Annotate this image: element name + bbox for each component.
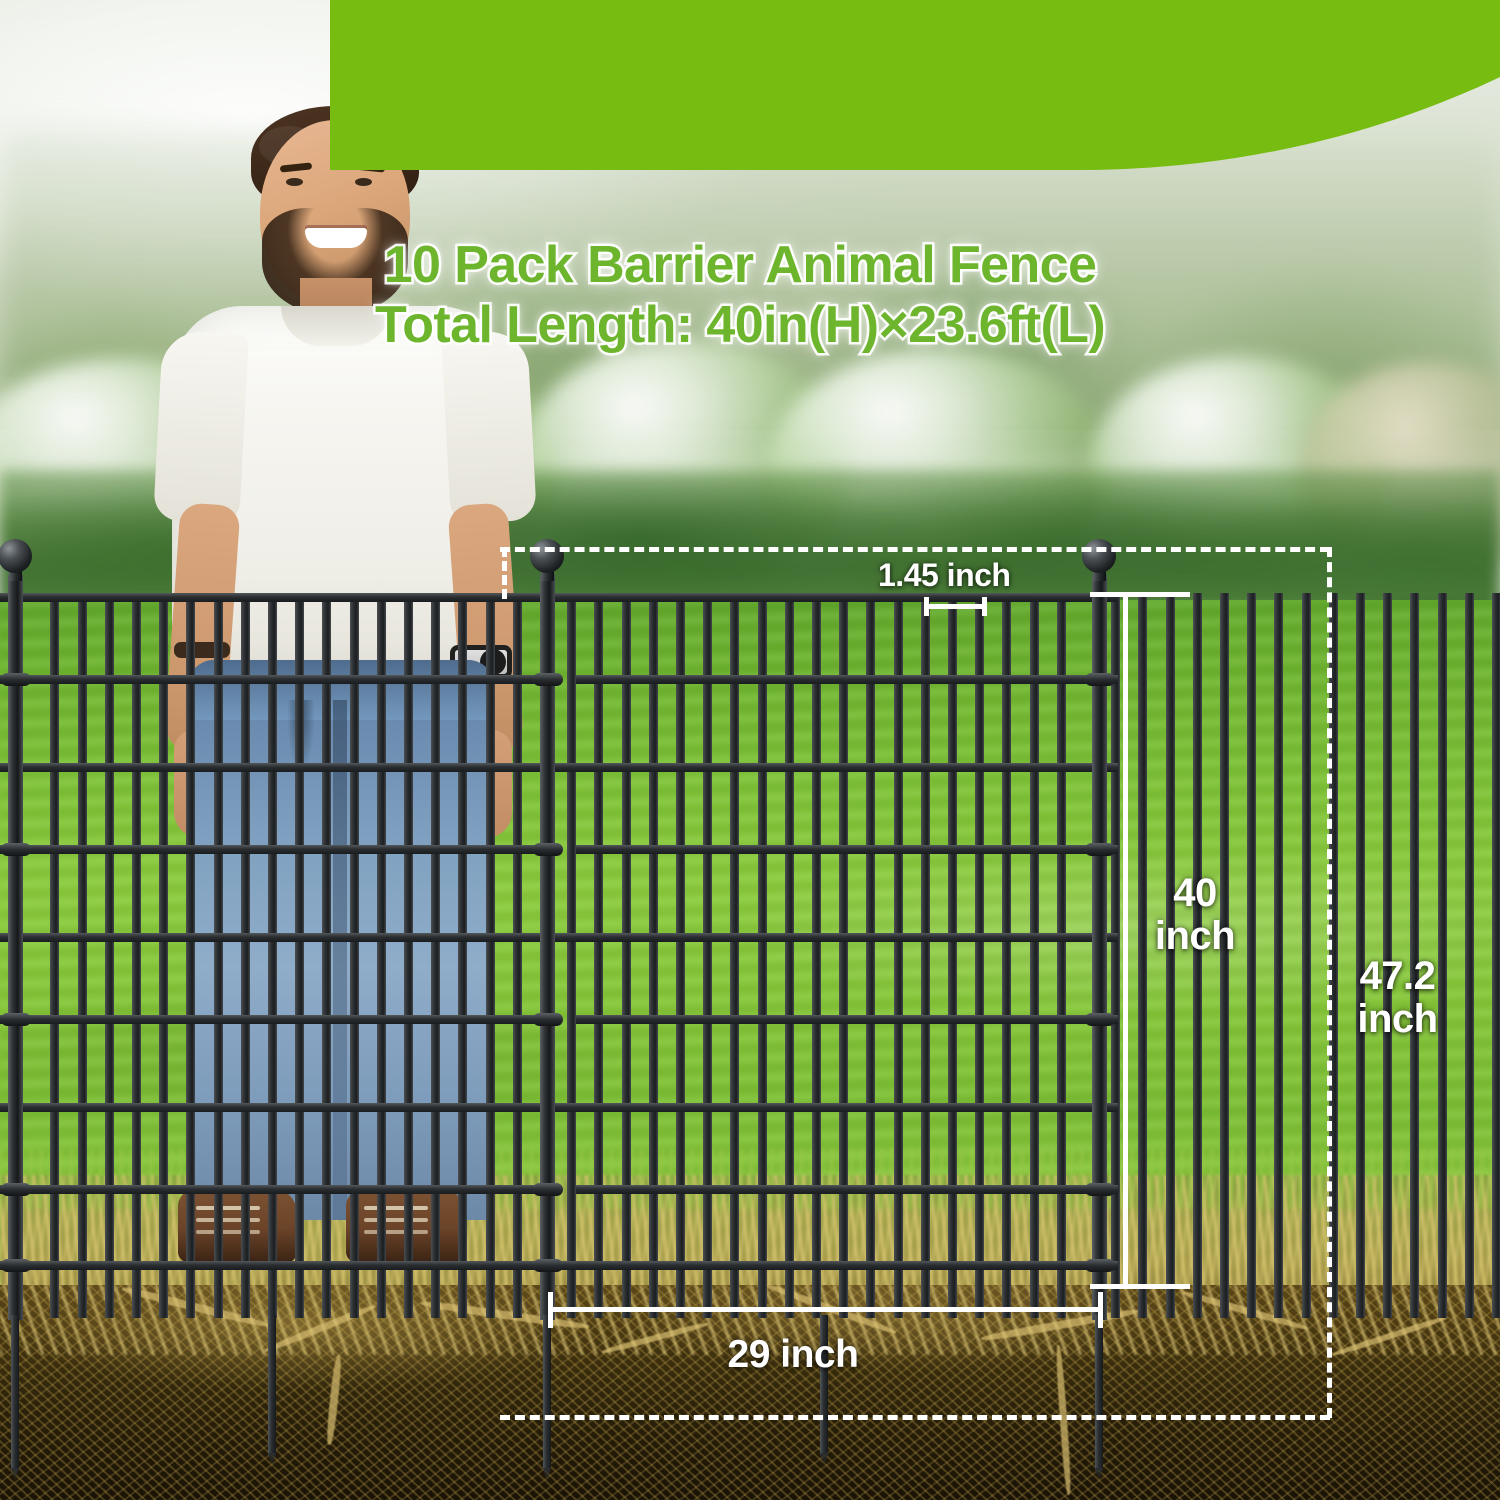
dashed-line-left-stub xyxy=(502,547,507,599)
fence-rail xyxy=(0,1185,552,1194)
post-clip xyxy=(1,843,31,856)
ground-stake xyxy=(11,1315,19,1470)
label-panel-width: 29 inch xyxy=(728,1334,859,1376)
fence-picket xyxy=(866,593,875,1318)
label-bar-gap: 1.45 inch xyxy=(878,558,1010,593)
fence-rail xyxy=(0,763,552,772)
fence-picket xyxy=(1138,593,1147,1318)
fence-picket xyxy=(295,593,304,1318)
post-clip xyxy=(533,843,563,856)
fence-picket xyxy=(1030,593,1039,1318)
fence-rail xyxy=(576,1015,1104,1024)
fence-picket xyxy=(268,593,277,1318)
fence-rail xyxy=(548,1103,1104,1112)
fence-picket xyxy=(730,593,739,1318)
fence-picket xyxy=(758,593,767,1318)
fence-picket xyxy=(1302,593,1311,1318)
ball-finial xyxy=(1082,539,1116,573)
fence-picket xyxy=(186,593,195,1318)
fence-post xyxy=(1092,575,1107,1320)
fence-picket xyxy=(105,593,114,1318)
fence-picket xyxy=(1111,593,1120,1318)
fence-picket xyxy=(948,593,957,1318)
fence-picket xyxy=(78,593,87,1318)
fence-picket xyxy=(785,593,794,1318)
fence-panels xyxy=(0,545,1500,1325)
fence-picket xyxy=(649,593,658,1318)
measure-line-40-inch xyxy=(1123,592,1128,1288)
post-clip xyxy=(1,1259,31,1272)
fence-picket xyxy=(458,593,467,1318)
fence-picket xyxy=(622,593,631,1318)
post-clip xyxy=(1085,1259,1115,1272)
post-clip xyxy=(1,673,31,686)
fence-rail xyxy=(0,593,552,602)
ground-stake xyxy=(1095,1315,1103,1470)
fence-rail xyxy=(0,675,552,684)
fence-rail xyxy=(0,845,552,854)
post-clip xyxy=(533,1013,563,1026)
eye xyxy=(355,178,372,186)
fence-picket xyxy=(975,593,984,1318)
dashed-line-bottom xyxy=(500,1415,1330,1420)
sleeve xyxy=(153,330,249,524)
post-clip xyxy=(1085,1013,1115,1026)
post-clip xyxy=(1085,843,1115,856)
measure-tick-40-top xyxy=(1090,592,1190,597)
fence-picket xyxy=(214,593,223,1318)
eye xyxy=(286,178,303,186)
measure-tick-29-right xyxy=(1098,1292,1103,1328)
root xyxy=(601,1321,709,1355)
fence-picket xyxy=(921,593,930,1318)
fence-rail xyxy=(0,933,552,942)
post-clip xyxy=(1,1183,31,1196)
post-clip xyxy=(533,1183,563,1196)
measure-arrow-145 xyxy=(926,604,986,609)
fence-rail xyxy=(576,1185,1104,1194)
fence-picket xyxy=(594,593,603,1318)
root xyxy=(1055,1345,1072,1495)
fence-rail xyxy=(0,1103,552,1112)
post-clip xyxy=(1085,673,1115,686)
fence-picket xyxy=(350,593,359,1318)
fence-picket xyxy=(839,593,848,1318)
root xyxy=(325,1355,342,1445)
label-total-height-unit: inch xyxy=(1357,997,1437,1041)
ground-stake xyxy=(268,1315,276,1455)
product-infographic: 1.45 inch 40 inch 47.2 inch 29 inch 10 P… xyxy=(0,0,1500,1500)
post-clip xyxy=(533,1259,563,1272)
fence-picket xyxy=(377,593,386,1318)
fence-picket xyxy=(132,593,141,1318)
smile xyxy=(305,228,367,248)
fence-rail xyxy=(548,933,1104,942)
measure-arrow-cap-left xyxy=(924,597,929,616)
fence-rail xyxy=(548,763,1104,772)
ball-finial xyxy=(0,539,32,573)
fence-picket xyxy=(513,593,522,1318)
fence-picket xyxy=(431,593,440,1318)
fence-post xyxy=(540,575,555,1320)
label-fence-height: 40 inch xyxy=(1150,872,1240,958)
fence-rail xyxy=(576,845,1104,854)
fence-post xyxy=(8,575,23,1320)
fence-picket xyxy=(703,593,712,1318)
label-fence-height-value: 40 xyxy=(1173,871,1217,915)
dashed-line-right xyxy=(1327,547,1332,1418)
fence-picket xyxy=(1274,593,1283,1318)
fence-picket xyxy=(1057,593,1066,1318)
fence-picket xyxy=(404,593,413,1318)
ground-stake xyxy=(543,1315,551,1470)
fence-picket xyxy=(50,593,59,1318)
fence-picket xyxy=(812,593,821,1318)
fence-picket xyxy=(322,593,331,1318)
fence-rail xyxy=(548,1261,1104,1270)
post-clip xyxy=(533,673,563,686)
fence-rail xyxy=(548,593,1104,602)
fence-picket xyxy=(1465,593,1474,1318)
fence-picket xyxy=(567,593,576,1318)
fence-rail xyxy=(0,1015,552,1024)
fence-picket xyxy=(676,593,685,1318)
measure-arrow-cap-right xyxy=(982,597,987,616)
fence-rail xyxy=(0,1261,552,1270)
fence-picket xyxy=(894,593,903,1318)
fence-picket xyxy=(1002,593,1011,1318)
measure-tick-40-bottom xyxy=(1090,1284,1190,1289)
fence-picket xyxy=(241,593,250,1318)
fence-rail xyxy=(576,675,1104,684)
fence-picket xyxy=(159,593,168,1318)
post-clip xyxy=(1,1013,31,1026)
post-clip xyxy=(1085,1183,1115,1196)
dashed-line-top xyxy=(500,547,1330,552)
label-total-height-value: 47.2 xyxy=(1360,954,1436,998)
fence-picket xyxy=(1492,593,1500,1318)
measure-line-29-inch xyxy=(550,1307,1102,1312)
ball-finial xyxy=(530,539,564,573)
fence-picket xyxy=(486,593,495,1318)
fence-picket xyxy=(1247,593,1256,1318)
label-fence-height-unit: inch xyxy=(1155,914,1235,958)
sleeve xyxy=(441,330,537,524)
measure-tick-29-left xyxy=(548,1292,553,1328)
label-total-height: 47.2 inch xyxy=(1345,955,1450,1041)
